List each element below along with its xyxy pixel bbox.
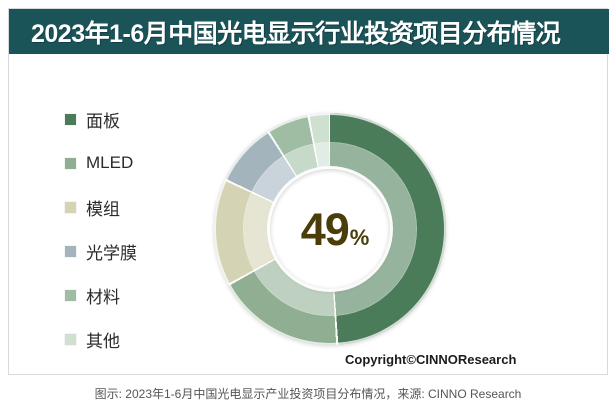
- legend-label-panel: 面板: [86, 107, 120, 132]
- center-value: 49 %: [301, 207, 370, 252]
- legend-swatch-panel: [65, 114, 76, 125]
- center-percent-sign: %: [350, 227, 370, 249]
- chart-card: 2023年1-6月中国光电显示行业投资项目分布情况 面板 MLED 模组 光学膜…: [8, 8, 608, 375]
- legend-swatch-mled: [65, 158, 76, 169]
- legend-label-other: 其他: [86, 327, 120, 352]
- legend-item-optical-film[interactable]: 光学膜: [65, 229, 195, 273]
- copyright-notice: Copyright©CINNOResearch: [345, 352, 516, 367]
- donut-chart: 49 %: [214, 113, 446, 345]
- legend-item-material[interactable]: 材料: [65, 273, 195, 317]
- legend-label-optical-film: 光学膜: [86, 239, 137, 264]
- page-title: 2023年1-6月中国光电显示行业投资项目分布情况: [9, 14, 560, 50]
- legend-swatch-other: [65, 334, 76, 345]
- chart-caption: 图示: 2023年1-6月中国光电显示产业投资项目分布情况，来源: CINNO …: [0, 385, 616, 402]
- legend-label-mled: MLED: [86, 153, 133, 173]
- legend-swatch-optical-film: [65, 246, 76, 257]
- legend-label-module: 模组: [86, 195, 120, 220]
- legend-item-other[interactable]: 其他: [65, 317, 195, 361]
- center-number: 49: [301, 207, 349, 252]
- legend-item-mled[interactable]: MLED: [65, 141, 195, 185]
- legend-swatch-module: [65, 202, 76, 213]
- legend-label-material: 材料: [86, 283, 120, 308]
- legend-item-panel[interactable]: 面板: [65, 97, 195, 141]
- donut-center: 49 %: [270, 169, 390, 289]
- legend-swatch-material: [65, 290, 76, 301]
- chart-legend: 面板 MLED 模组 光学膜 材料 其他: [65, 97, 195, 361]
- legend-item-module[interactable]: 模组: [65, 185, 195, 229]
- chart-title-bar: 2023年1-6月中国光电显示行业投资项目分布情况: [9, 9, 609, 54]
